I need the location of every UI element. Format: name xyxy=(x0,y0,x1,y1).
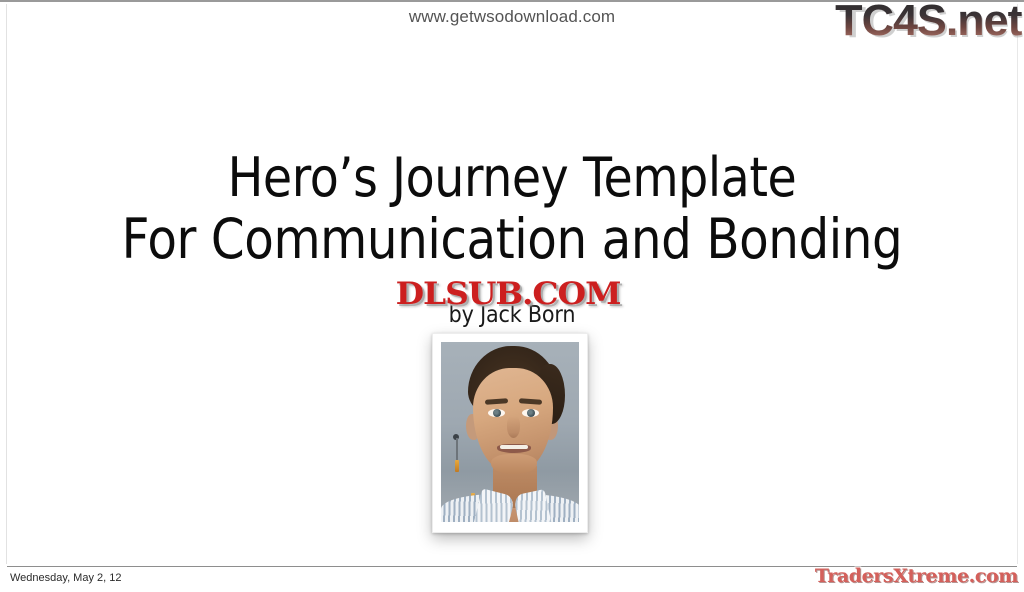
tradersxtreme-logo: TradersXtreme.com xyxy=(815,565,1018,587)
photo-nose xyxy=(507,416,520,438)
photo-iris-left xyxy=(493,409,501,417)
photo-chin xyxy=(491,454,537,474)
tc4s-logo: TC4S.net xyxy=(835,0,1021,46)
photo-mouth xyxy=(497,444,531,453)
tc4s-logo-container: TC4S.net TC4S.net xyxy=(794,0,1024,48)
photo-teeth xyxy=(500,445,528,449)
photo-eye-left xyxy=(488,409,505,417)
photo-background-lamp-1 xyxy=(455,460,459,472)
presentation-slide: www.getwsodownload.com TC4S.net TC4S.net… xyxy=(0,0,1024,592)
photo-eye-right xyxy=(522,409,539,417)
photo-background-pole xyxy=(456,438,458,460)
slide-right-border xyxy=(1017,4,1018,564)
slide-left-border xyxy=(6,4,7,564)
author-photo-frame xyxy=(432,333,588,533)
dlsub-watermark-container: DLSUB.COM xyxy=(362,277,654,311)
page-title-line-1: Hero’s Journey Template xyxy=(61,150,962,205)
author-photo xyxy=(441,342,579,522)
dlsub-watermark: DLSUB.COM xyxy=(353,277,663,311)
footer-date: Wednesday, May 2, 12 xyxy=(10,572,122,584)
page-title-line-2: For Communication and Bonding xyxy=(61,211,962,267)
title-block: Hero’s Journey Template For Communicatio… xyxy=(0,150,1024,267)
photo-iris-right xyxy=(527,409,535,417)
